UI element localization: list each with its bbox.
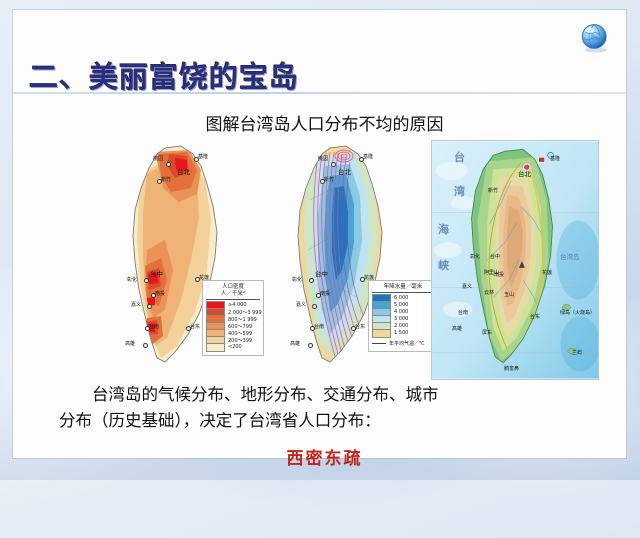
- map-label-taoyuan: 桃园: [153, 155, 163, 162]
- legend-label: 6 000: [394, 295, 408, 301]
- legend-title: 人口密度 人／千米²: [206, 284, 260, 300]
- legend-label: 1 500: [394, 330, 408, 336]
- map-label-alishan: 阿里山: [484, 269, 499, 276]
- map-label-chiayi: 嘉义: [462, 283, 472, 290]
- map-label-chiayi: 嘉义: [131, 301, 141, 308]
- annual-precipitation-map: 桃园 基隆 台北 新竹 彰化 台中 南投 花莲 嘉义 台南 高雄 台东 年降水量…: [268, 140, 433, 380]
- city-marker: [166, 162, 171, 167]
- map-label-kaohsiung: 高雄: [125, 340, 135, 347]
- sea-label-tai: 台: [454, 149, 467, 165]
- map-label-taichung: 台中: [150, 268, 163, 278]
- map-label-tainan: 台南: [314, 323, 324, 330]
- city-marker: [147, 304, 152, 309]
- map-label-tainan: 台南: [458, 309, 468, 316]
- map-label-taoyuan: 桃园: [318, 155, 328, 162]
- legend-label: 600～799: [228, 323, 252, 330]
- legend-note: 年平均气温／℃: [372, 340, 434, 347]
- map-label-keelung: 基隆: [198, 153, 208, 160]
- legend-label: 5 000: [394, 302, 408, 308]
- map-label-kaohsiung: 高雄: [452, 325, 462, 332]
- precipitation-legend: 年降水量／毫米 6 000 5 000 4 000 3 000: [368, 280, 438, 352]
- page-title: 二、美丽富饶的宝岛: [29, 54, 299, 96]
- legend-label: 400～599: [228, 330, 252, 337]
- city-marker: [309, 278, 314, 283]
- island-label-lvdao: 绿岛（火烧岛）: [560, 309, 595, 316]
- conclusion-text: 西密东疏: [13, 444, 626, 469]
- legend-swatch: [206, 343, 225, 352]
- legend-label: ≥4 000: [228, 302, 247, 308]
- map-label-nantou: 南投: [155, 290, 165, 297]
- body-paragraph: 台湾岛的气候分布、地形分布、交通分布、城市 分布（历史基础），决定了台湾省人口分…: [59, 382, 579, 433]
- map-label-keelung: 基隆: [363, 153, 373, 160]
- map-label-hsinchu: 新竹: [488, 187, 498, 194]
- sea-label-xia: 峡: [438, 257, 451, 273]
- legend-entry: <200: [206, 344, 260, 351]
- legend-label: 4 000: [394, 309, 408, 315]
- city-marker: [312, 304, 317, 309]
- map-label-taipei: 台北: [338, 166, 351, 176]
- map-label-tainan: 台南: [149, 323, 159, 330]
- map-label-pingtung: 屏东: [482, 329, 492, 336]
- population-density-map: 桃园 基隆 台北 新竹 彰化 台中 南投 花莲 嘉义 台南 高雄 台东 人口密度: [103, 140, 263, 380]
- sea-label-taiwan-island: 台湾岛: [560, 251, 580, 261]
- map-label-chiayi: 嘉义: [296, 301, 306, 308]
- body-line-1: 台湾岛的气候分布、地形分布、交通分布、城市: [59, 382, 579, 408]
- map-label-changhua: 彰化: [127, 276, 137, 283]
- map-label-taipei: 台北: [177, 166, 190, 176]
- legend-entry: 1 500: [372, 330, 434, 337]
- map-label-nantou: 南投: [320, 290, 330, 297]
- sea-label-wan: 湾: [454, 183, 467, 199]
- map-label-changhua: 彰化: [470, 253, 480, 260]
- island-label-lanyu: 兰屿: [572, 349, 582, 356]
- legend-title: 年降水量／毫米: [372, 284, 434, 293]
- map-label-changhua: 彰化: [292, 276, 302, 283]
- maps-row: 桃园 基隆 台北 新竹 彰化 台中 南投 花莲 嘉义 台南 高雄 台东 人口密度: [13, 140, 626, 380]
- city-marker: [308, 343, 313, 348]
- legend-label: 200～399: [228, 337, 252, 344]
- terrain-map: 台 湾 海 峡 台湾岛 基隆 台北 新竹 台中 彰化 南投 花莲 云林 嘉义 台…: [431, 140, 599, 380]
- map-label-hsinchu: 新竹: [161, 176, 171, 183]
- body-line-2: 分布（历史基础），决定了台湾省人口分布：: [59, 411, 381, 430]
- city-marker: [331, 162, 336, 167]
- city-marker: [144, 278, 149, 283]
- legend-label: 800～1 999: [228, 316, 257, 323]
- map-label-hsinchu: 新竹: [324, 176, 334, 183]
- city-marker: [143, 343, 148, 348]
- map-label-hualien: 花莲: [542, 269, 552, 276]
- population-density-legend: 人口密度 人／千米² ≥4 000 2 000～3 999 800～1 999: [202, 280, 264, 356]
- isotherm-line-icon: [372, 343, 386, 344]
- map-label-eluanbi: 鹅銮鼻: [504, 365, 519, 372]
- globe-icon: [578, 22, 612, 56]
- legend-label: 2 000: [394, 323, 408, 329]
- legend-label: 3 000: [394, 316, 408, 322]
- map-label-taichung: 台中: [315, 268, 328, 278]
- legend-label: 2 000～3 999: [228, 309, 262, 316]
- map-label-yushan: 玉山: [504, 291, 514, 298]
- map-label-yunlin: 云林: [484, 289, 494, 296]
- legend-note-label: 年平均气温／℃: [389, 340, 425, 347]
- map-label-keelung: 基隆: [550, 155, 560, 162]
- map-label-taitung: 台东: [530, 313, 540, 320]
- map-label-taipei: 台北: [518, 168, 531, 178]
- slide-panel: 二、美丽富饶的宝岛 图解台湾岛人口分布不均的原因: [13, 10, 626, 458]
- map-label-taichung: 台中: [490, 253, 500, 260]
- sea-label-hai: 海: [438, 221, 451, 237]
- map-label-taitung: 台东: [190, 323, 200, 330]
- title-divider: [13, 92, 626, 94]
- map-label-kaohsiung: 高雄: [290, 340, 300, 347]
- legend-label: <200: [228, 344, 242, 350]
- slide-subtitle: 图解台湾岛人口分布不均的原因: [13, 110, 626, 135]
- legend-swatch: [372, 329, 391, 338]
- map-label-taitung: 台东: [355, 323, 365, 330]
